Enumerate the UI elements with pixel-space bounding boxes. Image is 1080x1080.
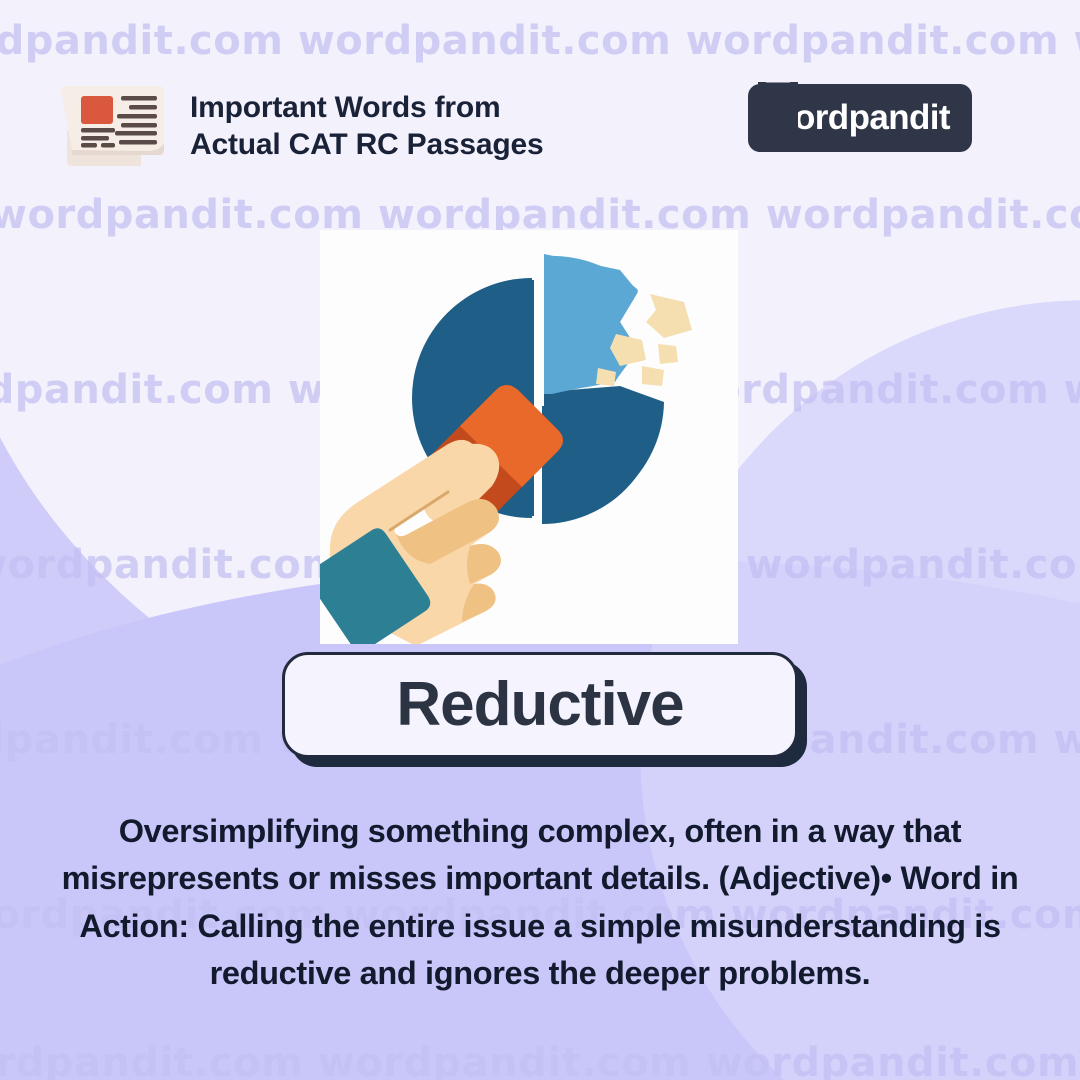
- bookmark-w-icon: [756, 82, 800, 152]
- illustration-panel: [320, 230, 738, 644]
- definition-text: Oversimplifying something complex, often…: [28, 808, 1052, 998]
- brand-name: ordpandit: [794, 98, 950, 138]
- brand-logo[interactable]: ordpandit: [748, 84, 972, 152]
- page-title: Important Words from Actual CAT RC Passa…: [190, 90, 544, 163]
- word-card-body: Reductive: [282, 652, 798, 758]
- newspaper-icon: [55, 72, 173, 168]
- poster-canvas: wordpandit.com wordpandit.com wordpandit…: [0, 0, 1080, 1080]
- vocabulary-word: Reductive: [396, 674, 683, 736]
- word-card: Reductive: [282, 652, 798, 758]
- hand-erasing-pie-chart-illustration: [320, 230, 738, 644]
- header: Important Words from Actual CAT RC Passa…: [0, 0, 1080, 190]
